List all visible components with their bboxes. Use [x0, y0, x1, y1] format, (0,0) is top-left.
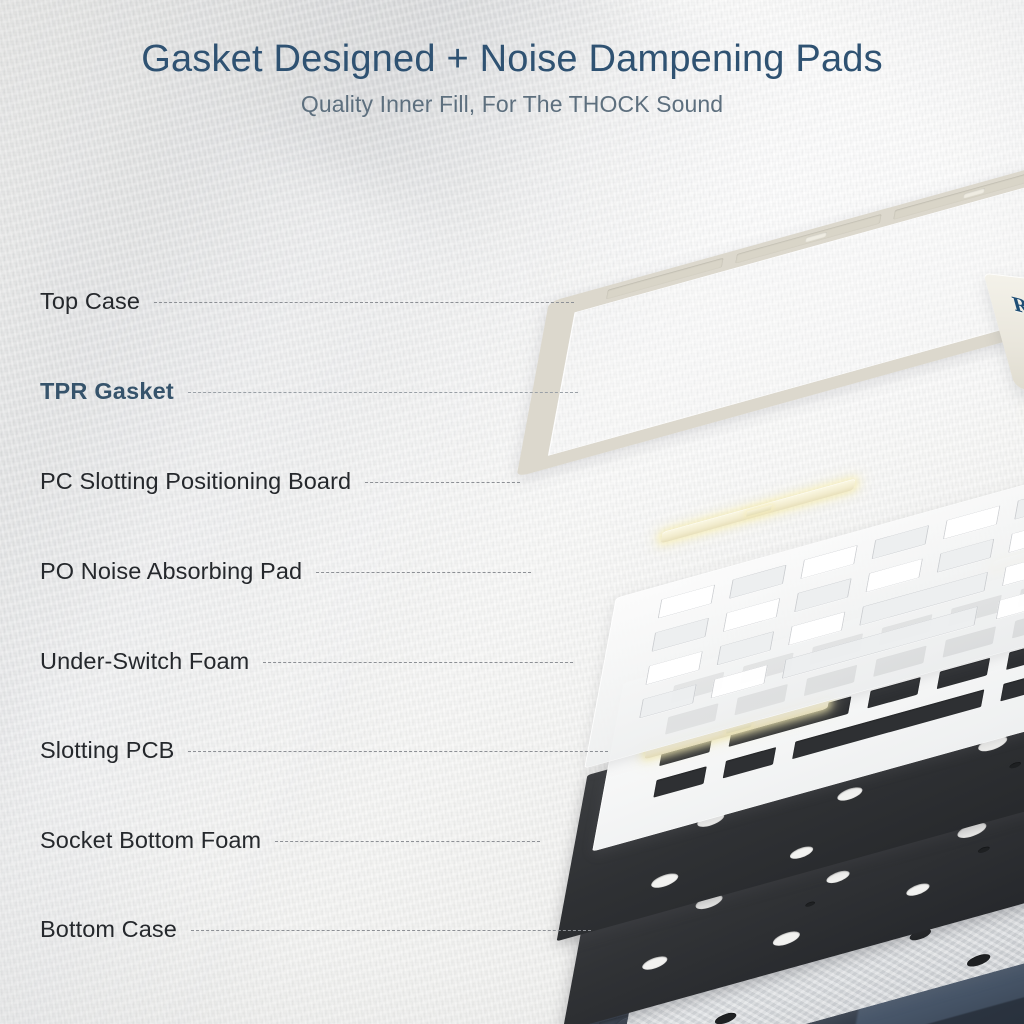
callout-label: Under-Switch Foam	[40, 648, 249, 674]
callout-leader-line	[365, 482, 520, 483]
callout-pc-slotting-positioning-board: PC Slotting Positioning Board	[40, 468, 520, 494]
callout-leader-line	[316, 572, 531, 573]
callout-tpr-gasket: TPR Gasket	[40, 378, 578, 404]
callout-leader-line	[154, 302, 574, 303]
callout-leader-line	[275, 841, 540, 842]
callout-top-case: Top Case	[40, 288, 574, 314]
infographic-canvas: REDRAGON Gasket Designed + Noise Dampeni…	[0, 0, 1024, 1024]
callout-leader-line	[188, 392, 578, 393]
callout-bottom-case: Bottom Case	[40, 916, 591, 942]
callout-label: TPR Gasket	[40, 378, 174, 404]
callout-label: PO Noise Absorbing Pad	[40, 558, 302, 584]
callout-list: Top CaseTPR GasketPC Slotting Positionin…	[0, 0, 1024, 1024]
callout-leader-line	[188, 751, 608, 752]
callout-label: Slotting PCB	[40, 737, 174, 763]
callout-label: Socket Bottom Foam	[40, 827, 261, 853]
callout-po-noise-absorbing-pad: PO Noise Absorbing Pad	[40, 558, 531, 584]
callout-label: PC Slotting Positioning Board	[40, 468, 351, 494]
callout-under-switch-foam: Under-Switch Foam	[40, 648, 573, 674]
callout-socket-bottom-foam: Socket Bottom Foam	[40, 827, 540, 853]
callout-leader-line	[263, 662, 573, 663]
callout-leader-line	[191, 930, 591, 931]
callout-slotting-pcb: Slotting PCB	[40, 737, 608, 763]
callout-label: Top Case	[40, 288, 140, 314]
callout-label: Bottom Case	[40, 916, 177, 942]
